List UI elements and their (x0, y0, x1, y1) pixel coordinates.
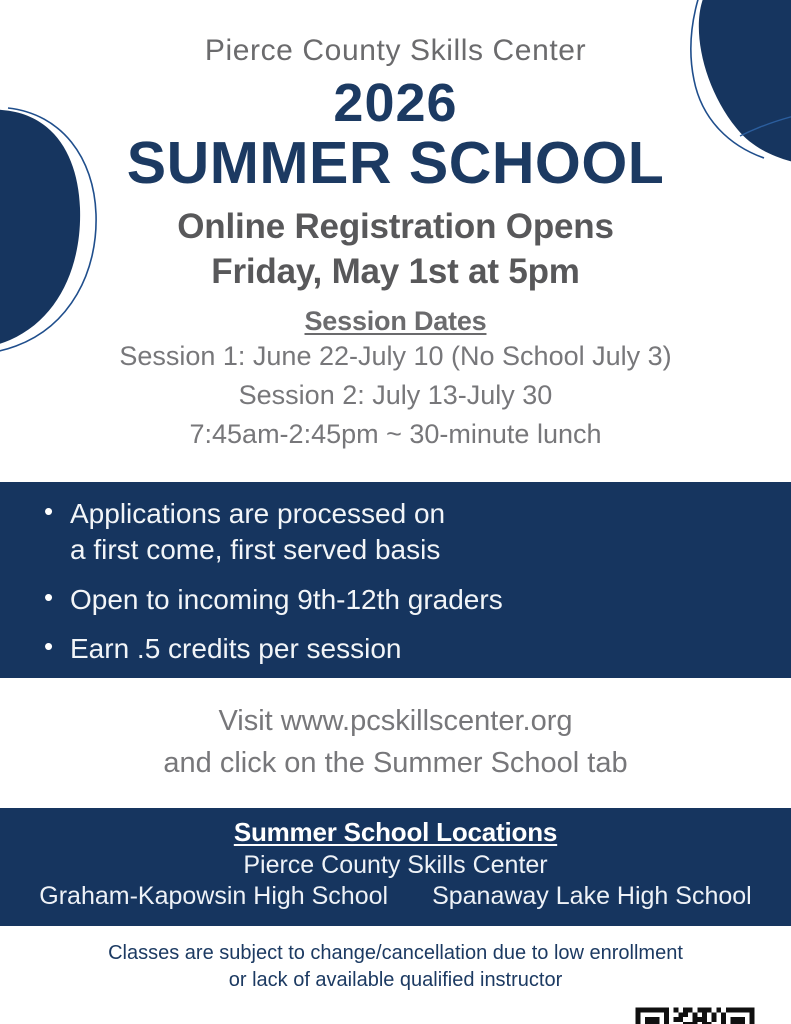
footer-line: Classes are subject to change/cancellati… (0, 940, 791, 967)
website-line[interactable]: Visit www.pcskillscenter.org (0, 700, 791, 742)
page-title: SUMMER SCHOOL (0, 133, 791, 193)
requirements-list: Applications are processed ona first com… (36, 496, 630, 681)
session-line: Session 2: July 13-July 30 (0, 376, 791, 415)
session-dates-heading: Session Dates (0, 306, 791, 337)
website-instruction: and click on the Summer School tab (0, 742, 791, 784)
year-heading: 2026 (0, 76, 791, 131)
session-line: Session 1: June 22-July 10 (No School Ju… (0, 337, 791, 376)
session-dates-block: Session Dates Session 1: June 22-July 10… (0, 306, 791, 454)
location-item: Graham-Kapowsin High School (39, 882, 388, 911)
footer-disclaimer: Classes are subject to change/cancellati… (0, 940, 791, 994)
organization-name: Pierce County Skills Center (0, 34, 791, 68)
summer-school-flyer: Pierce County Skills Center 2026 SUMMER … (0, 0, 791, 1024)
locations-band: Summer School Locations Pierce County Sk… (0, 808, 791, 926)
locations-heading: Summer School Locations (0, 817, 791, 848)
visit-block: Visit www.pcskillscenter.org and click o… (0, 700, 791, 784)
qr-code-canvas[interactable] (626, 998, 764, 1024)
list-item: Earn .5 credits per session (70, 631, 630, 667)
qr-code[interactable] (626, 998, 764, 1024)
location-item: Spanaway Lake High School (432, 882, 752, 911)
list-item-text: Applications are processed ona first com… (70, 498, 445, 565)
locations-row: Graham-Kapowsin High School Spanaway Lak… (0, 882, 791, 911)
location-primary: Pierce County Skills Center (0, 851, 791, 880)
flyer-header: Pierce County Skills Center 2026 SUMMER … (0, 0, 791, 295)
list-item-text: Open to incoming 9th-12th graders (70, 584, 503, 615)
registration-line-2: Friday, May 1st at 5pm (0, 250, 791, 295)
requirements-band: Applications are processed ona first com… (0, 482, 791, 678)
registration-line-1: Online Registration Opens (0, 205, 791, 250)
list-item-text: Earn .5 credits per session (70, 633, 402, 664)
session-line: 7:45am-2:45pm ~ 30-minute lunch (0, 415, 791, 454)
list-item: Open to incoming 9th-12th graders (70, 582, 630, 618)
footer-line: or lack of available qualified instructo… (0, 967, 791, 994)
list-item: Applications are processed ona first com… (70, 496, 630, 568)
